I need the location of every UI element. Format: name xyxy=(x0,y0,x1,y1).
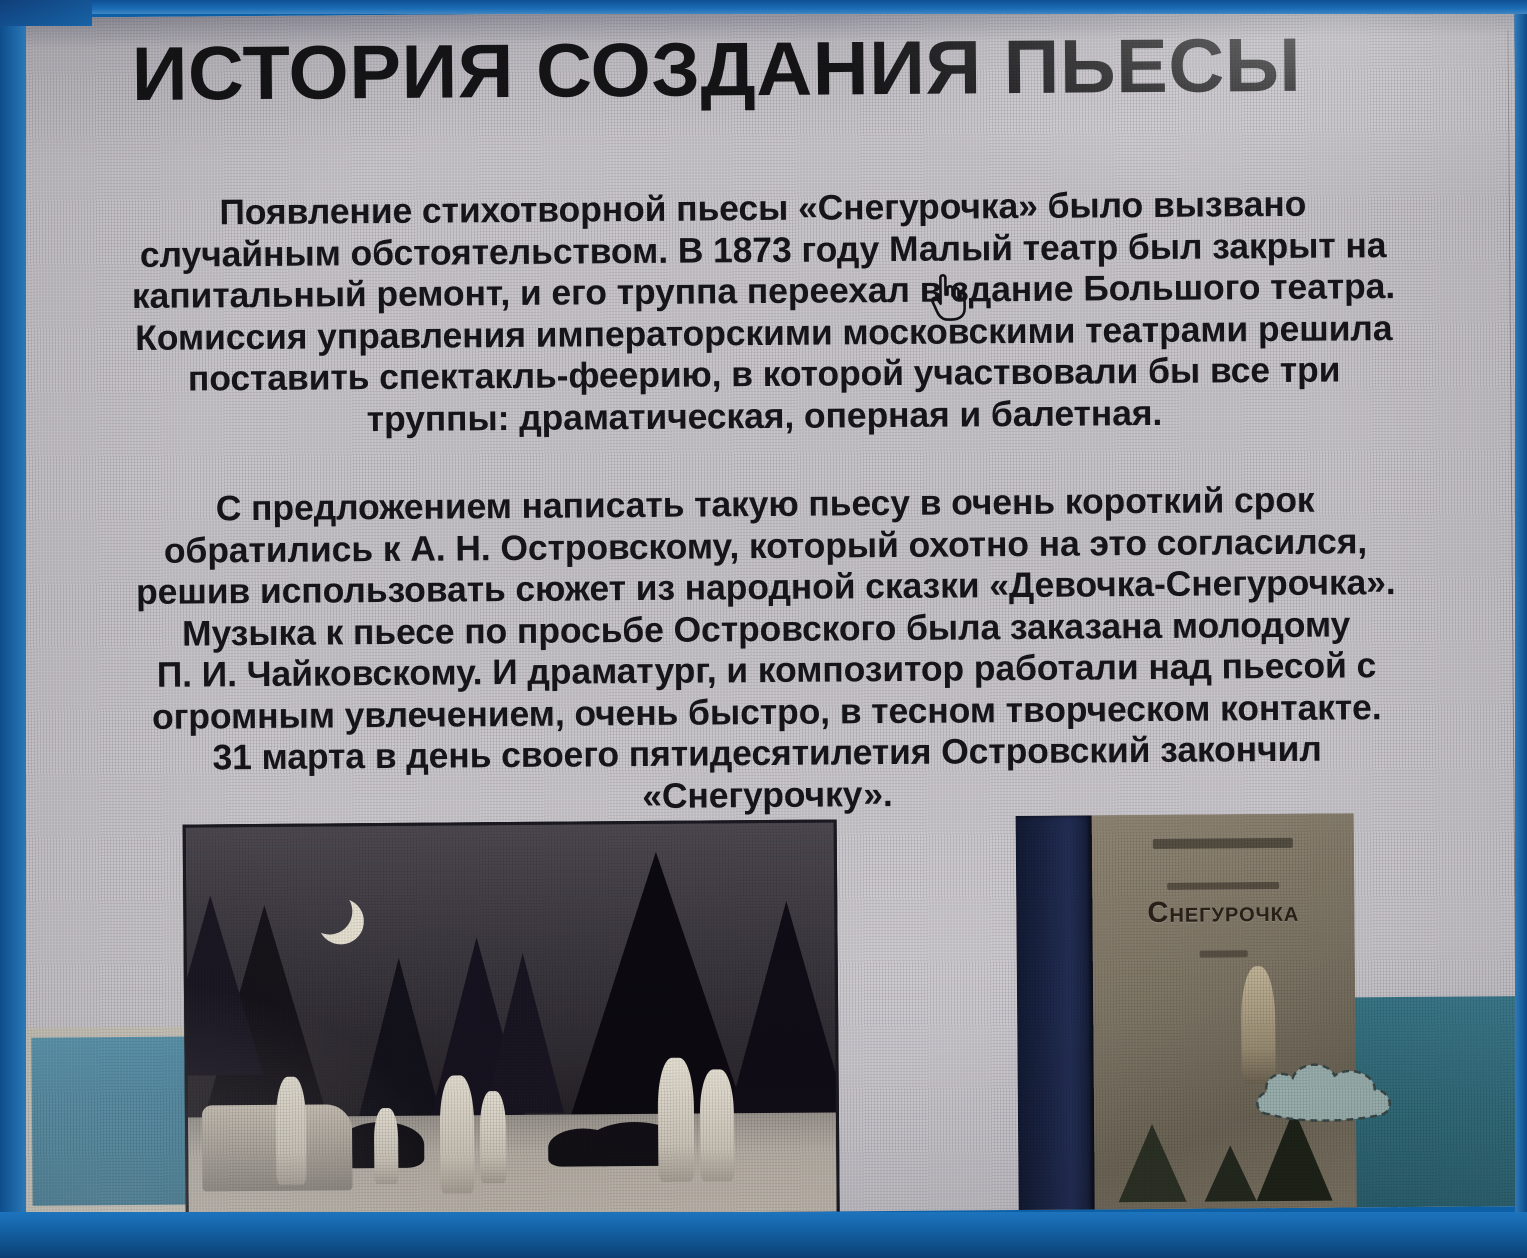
stage-scene-photo xyxy=(183,819,840,1217)
monitor-photo: ИСТОРИЯ СОЗДАНИЯ ПЬЕСЫ Появление стихотв… xyxy=(0,0,1527,1258)
book-subtitle-line xyxy=(1200,950,1248,957)
book-spine xyxy=(1016,815,1095,1217)
stage-figure xyxy=(480,1091,507,1183)
book-cover-title: Снегурочка xyxy=(1147,896,1299,930)
stage-figure xyxy=(276,1077,307,1185)
stage-figure xyxy=(700,1069,735,1181)
cloud-shape-icon xyxy=(1251,1055,1402,1140)
stage-figure xyxy=(374,1108,399,1184)
monitor-bezel-right xyxy=(1515,0,1527,1258)
monitor-bezel-left xyxy=(0,10,26,1258)
presentation-slide: ИСТОРИЯ СОЗДАНИЯ ПЬЕСЫ Появление стихотв… xyxy=(9,6,1523,1218)
slide-title: ИСТОРИЯ СОЗДАНИЯ ПЬЕСЫ xyxy=(131,25,1447,116)
book-front-cover: Снегурочка xyxy=(1092,813,1357,1217)
paragraph-1: Появление стихотворной пьесы «Снегурочка… xyxy=(29,182,1499,443)
book-author-line xyxy=(1167,882,1279,890)
paragraph-2: С предложением написать такую пьесу в оч… xyxy=(31,478,1502,822)
pointing-hand-cursor[interactable] xyxy=(927,272,967,322)
book-cover-photo: Снегурочка xyxy=(1016,813,1357,1217)
monitor-bezel-top xyxy=(0,0,1527,14)
stage-figure xyxy=(440,1075,475,1193)
monitor-bezel-corner xyxy=(0,0,92,26)
monitor-bezel-bottom xyxy=(0,1212,1527,1258)
stage-figure xyxy=(657,1058,694,1182)
book-publisher-line xyxy=(1153,838,1293,849)
